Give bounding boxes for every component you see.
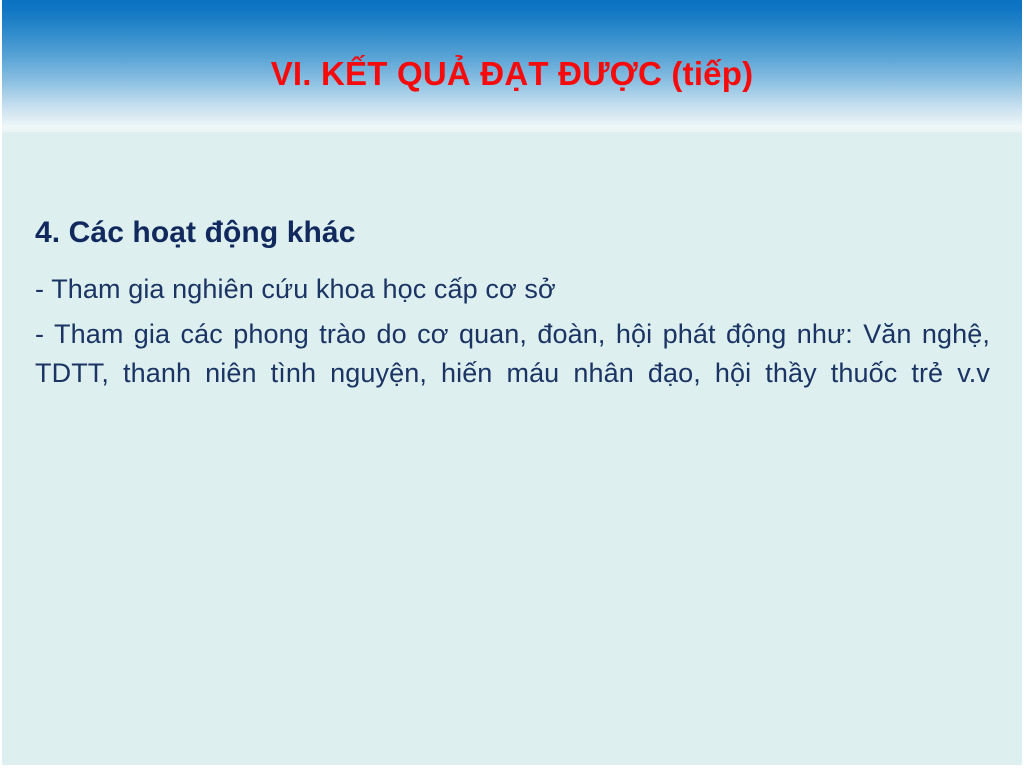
slide-body: 4. Các hoạt động khác - Tham gia nghiên … bbox=[2, 132, 1022, 765]
content-block: 4. Các hoạt động khác - Tham gia nghiên … bbox=[35, 216, 990, 433]
header-band: VI. KẾT QUẢ ĐẠT ĐƯỢC (tiếp) bbox=[2, 0, 1022, 132]
section-heading: 4. Các hoạt động khác bbox=[35, 216, 990, 250]
slide-canvas: VI. KẾT QUẢ ĐẠT ĐƯỢC (tiếp) 4. Các hoạt … bbox=[2, 0, 1022, 765]
slide-title: VI. KẾT QUẢ ĐẠT ĐƯỢC (tiếp) bbox=[2, 0, 1022, 132]
bullet-item-2: - Tham gia các phong trào do cơ quan, đo… bbox=[35, 315, 990, 433]
bullet-item-1: - Tham gia nghiên cứu khoa học cấp cơ sở bbox=[35, 270, 990, 309]
presentation-slide: VI. KẾT QUẢ ĐẠT ĐƯỢC (tiếp) 4. Các hoạt … bbox=[0, 0, 1024, 768]
